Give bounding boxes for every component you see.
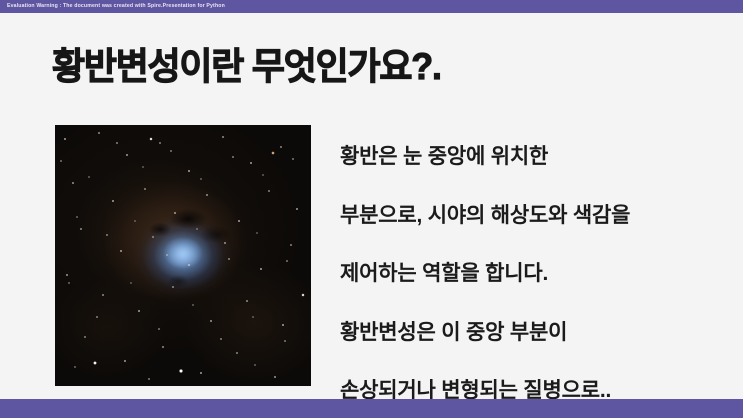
evaluation-warning-bar: Evaluation Warning : The document was cr… (0, 0, 743, 13)
bottom-accent-bar (0, 399, 743, 418)
body-line: 제어하는 역할을 합니다. (340, 245, 732, 304)
page-title: 황반변성이란 무엇인가요?. (52, 45, 441, 89)
evaluation-warning-text: Evaluation Warning : The document was cr… (7, 3, 225, 10)
bright-stars-layer (55, 125, 311, 386)
body-line: 황반은 눈 중앙에 위치한 (340, 128, 732, 187)
body-text-block: 황반은 눈 중앙에 위치한 부분으로, 시야의 해상도와 색감을 제어하는 역할… (340, 128, 732, 418)
nebula-image (55, 125, 311, 386)
body-line: 부분으로, 시야의 해상도와 색감을 (340, 187, 732, 246)
presentation-slide: Evaluation Warning : The document was cr… (0, 0, 743, 418)
body-line: 황반변성은 이 중앙 부분이 (340, 304, 732, 363)
